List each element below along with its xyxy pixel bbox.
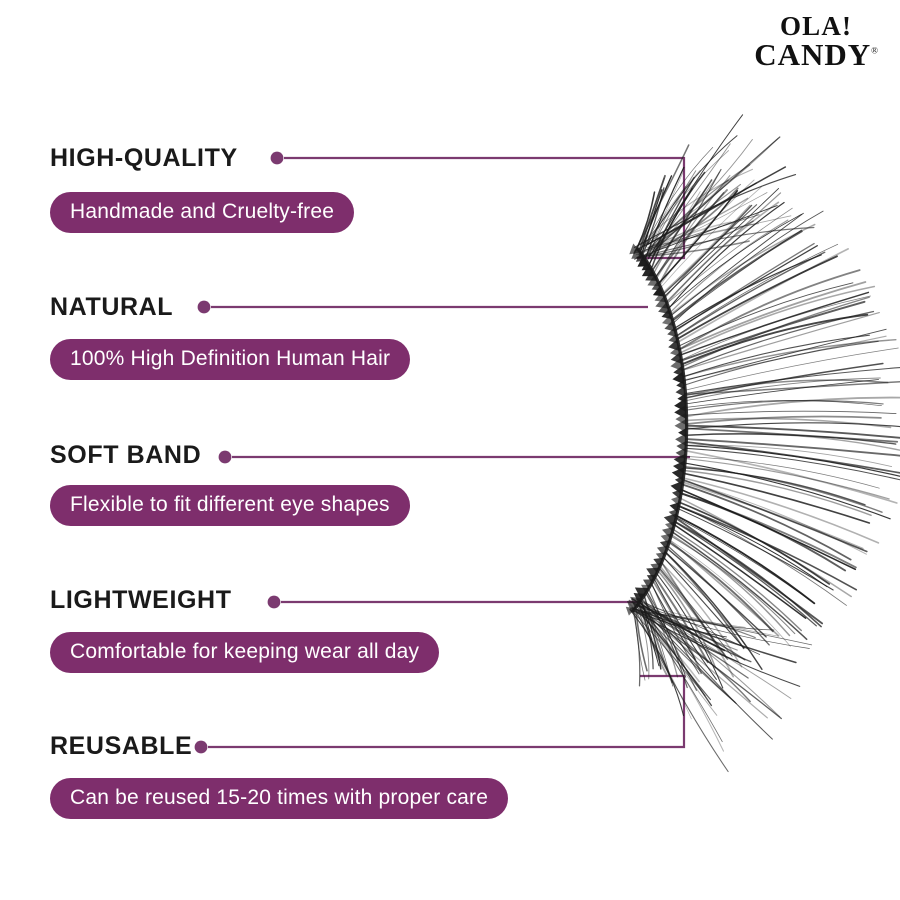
lash-hairs xyxy=(626,115,900,772)
feature-heading-1: NATURAL xyxy=(50,295,173,320)
feature-heading-0: HIGH-QUALITY xyxy=(50,146,238,171)
infographic-canvas: OLA! CANDY® HIGH-QUALITYHandmade and Cru… xyxy=(0,0,900,900)
feature-pill-1: 100% High Definition Human Hair xyxy=(50,339,410,380)
feature-pill-4: Can be reused 15-20 times with proper ca… xyxy=(50,778,508,819)
feature-heading-3: LIGHTWEIGHT xyxy=(50,588,232,613)
feature-heading-4: REUSABLE xyxy=(50,734,192,759)
feature-pill-2: Flexible to fit different eye shapes xyxy=(50,485,410,526)
feature-pill-3: Comfortable for keeping wear all day xyxy=(50,632,439,673)
feature-pill-0: Handmade and Cruelty-free xyxy=(50,192,354,233)
feature-heading-2: SOFT BAND xyxy=(50,443,201,468)
